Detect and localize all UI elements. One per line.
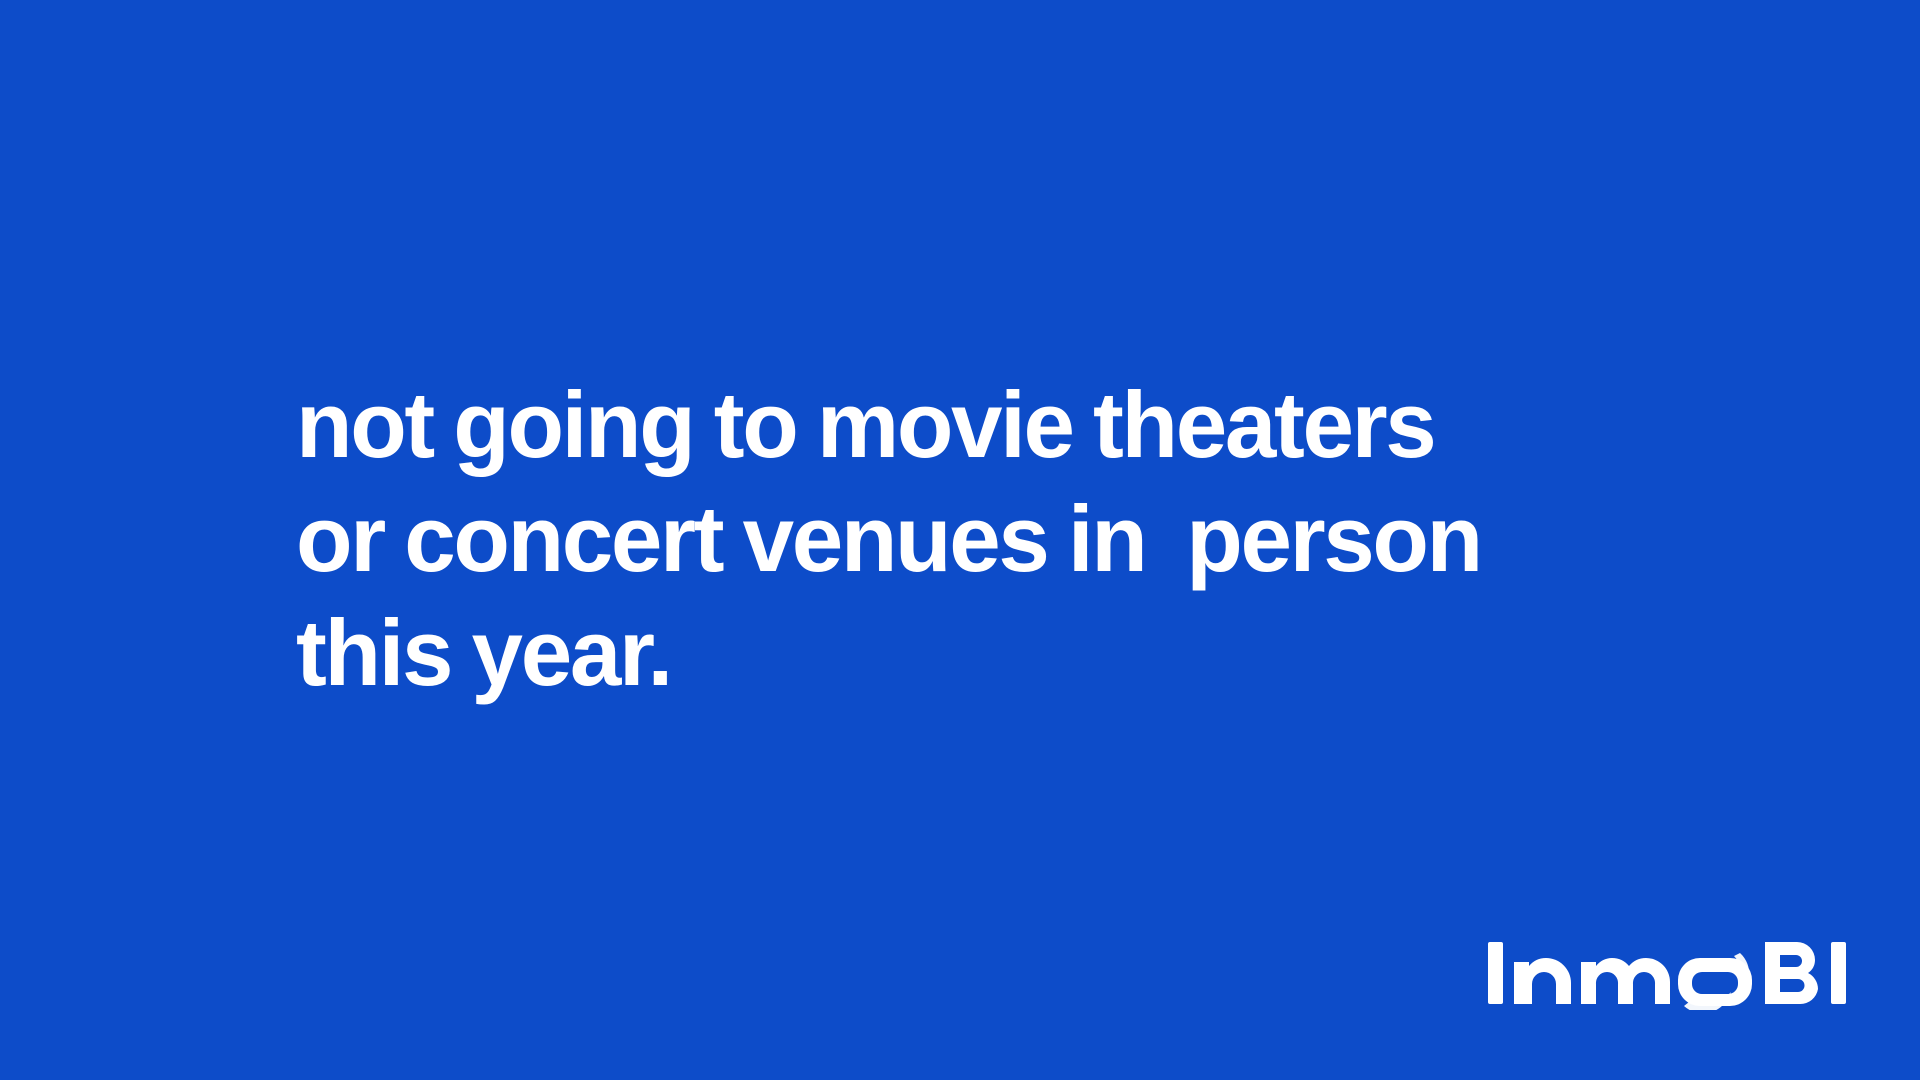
logo-letter-i-first: [1488, 942, 1503, 1004]
logo-letter-m: [1581, 958, 1670, 1004]
slide-canvas: not going to movie theaters or concert v…: [0, 0, 1920, 1080]
inmobi-logo: [1488, 936, 1850, 1010]
headline-line-2: or concert venues in person: [296, 482, 1675, 596]
logo-letter-i-last: [1831, 942, 1846, 1004]
headline-line-3: this year.: [296, 596, 1675, 710]
headline-block: not going to movie theaters or concert v…: [296, 368, 1696, 710]
logo-letter-n: [1514, 958, 1571, 1004]
headline-line-1: not going to movie theaters: [296, 368, 1675, 482]
logo-letter-b: [1765, 942, 1818, 1004]
inmobi-logo-mark: [1488, 936, 1850, 1010]
